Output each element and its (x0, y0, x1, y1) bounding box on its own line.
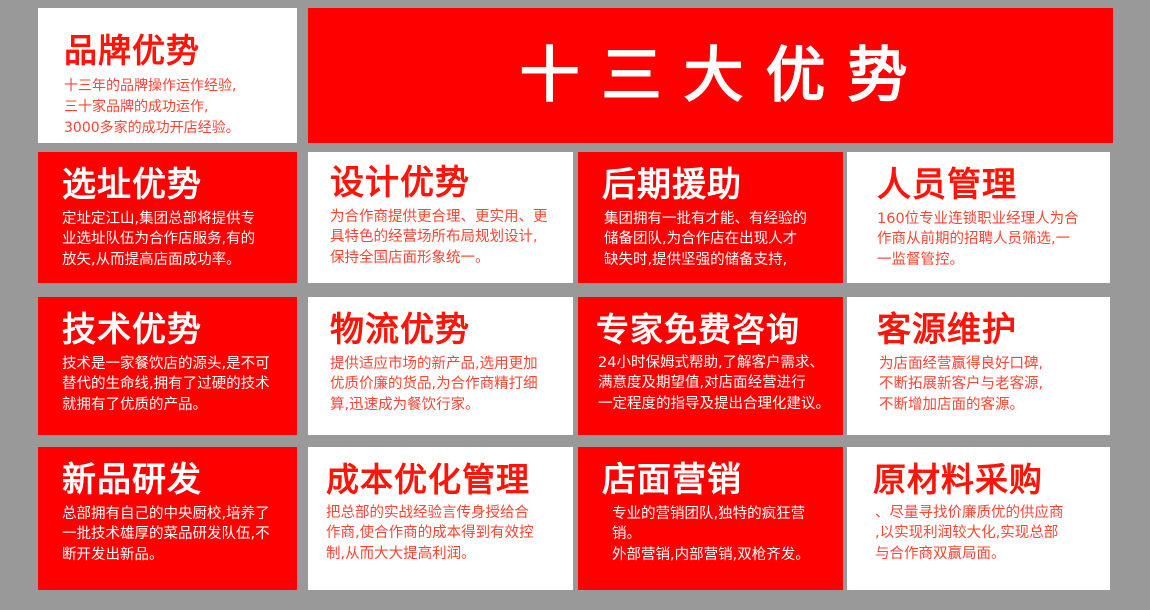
card-title: 原材料采购 (873, 463, 1098, 497)
card-title: 物流优势 (330, 313, 559, 348)
card-expert-free-consultation: 专家免费咨询 24小时保姆式帮助,了解客户需求、 满意度及期望值,对店面经营进行… (578, 297, 843, 435)
card-title: 选址优势 (62, 168, 283, 203)
card-customer-source-maintenance: 客源维护 为店面经营赢得良好口碑, 不断拓展新客户与老客源, 不断增加店面的客源… (847, 297, 1110, 435)
card-body: 定址定江山,集团总部将提供专 业选址队伍为合作店服务,有的 放矢,从而提高店面成… (62, 209, 283, 271)
card-body: 总部拥有自己的中央厨校,培养了 一批技术雄厚的菜品研发队伍,不 断开发出新品。 (62, 504, 283, 566)
card-store-marketing: 店面营销 专业的营销团队,独特的疯狂营销。 外部营销,内部营销,双枪齐发。 (578, 447, 843, 590)
card-body: 十三年的品牌操作运作经验, 三十家品牌的成功运作, 3000多家的成功开店经验。 (64, 76, 281, 139)
card-logistics-advantage: 物流优势 提供适应市场的新产品,选用更加 优质价廉的货品,为合作商精打细 算,迅… (308, 297, 573, 435)
card-raw-material-procurement: 原材料采购 、尽量寻找价廉质优的供应商 ,以实现利润较大化,实现总部 与合作商双… (847, 447, 1110, 590)
card-body: 、尽量寻找价廉质优的供应商 ,以实现利润较大化,实现总部 与合作商双赢局面。 (875, 503, 1098, 565)
card-cost-optimization-management: 成本优化管理 把总部的实战经验言传身授给合 作商,使合作商的成本得到有效控 制,… (308, 447, 573, 590)
card-title: 技术优势 (62, 313, 283, 348)
card-title: 店面营销 (602, 463, 829, 498)
card-body: 集团拥有一批有才能、有经验的 储备团队,为合作店在出现人才 缺失时,提供坚强的储… (604, 209, 829, 271)
card-title: 新品研发 (62, 463, 283, 498)
card-body: 专业的营销团队,独特的疯狂营销。 外部营销,内部营销,双枪齐发。 (604, 504, 829, 566)
card-new-product-development: 新品研发 总部拥有自己的中央厨校,培养了 一批技术雄厚的菜品研发队伍,不 断开发… (38, 447, 297, 590)
card-title: 设计优势 (330, 166, 559, 201)
card-body: 技术是一家餐饮店的源头,是不可 替代的生命线,拥有了过硬的技术 就拥有了优质的产… (62, 354, 283, 416)
card-body: 为店面经营赢得良好口碑, 不断拓展新客户与老客源, 不断增加店面的客源。 (879, 354, 1096, 416)
card-site-selection-advantage: 选址优势 定址定江山,集团总部将提供专 业选址队伍为合作店服务,有的 放矢,从而… (38, 152, 297, 283)
card-title: 客源维护 (877, 313, 1096, 348)
card-personnel-management: 人员管理 160位专业连锁职业经理人为合 作商从前期的招聘人员筛选,一 一监督管… (847, 152, 1110, 283)
card-body: 提供适应市场的新产品,选用更加 优质价廉的货品,为合作商精打细 算,迅速成为餐饮… (330, 354, 559, 416)
poster-canvas: 品牌优势 十三年的品牌操作运作经验, 三十家品牌的成功运作, 3000多家的成功… (0, 0, 1150, 610)
card-title: 成本优化管理 (326, 463, 561, 497)
card-title: 专家免费咨询 (596, 313, 831, 347)
card-brand-advantage: 品牌优势 十三年的品牌操作运作经验, 三十家品牌的成功运作, 3000多家的成功… (38, 8, 297, 143)
card-body: 24小时保姆式帮助,了解客户需求、 满意度及期望值,对店面经营进行 一定程度的指… (598, 353, 831, 415)
poster-banner: 十三大优势 (308, 8, 1113, 143)
card-title: 后期援助 (602, 168, 829, 203)
card-technical-advantage: 技术优势 技术是一家餐饮店的源头,是不可 替代的生命线,拥有了过硬的技术 就拥有… (38, 297, 297, 435)
card-title: 人员管理 (877, 168, 1096, 203)
card-later-stage-support: 后期援助 集团拥有一批有才能、有经验的 储备团队,为合作店在出现人才 缺失时,提… (578, 152, 843, 283)
card-design-advantage: 设计优势 为合作商提供更合理、更实用、更 具特色的经营场所布局规划设计, 保持全… (308, 152, 573, 283)
banner-title: 十三大优势 (492, 46, 930, 106)
card-body: 为合作商提供更合理、更实用、更 具特色的经营场所布局规划设计, 保持全国店面形象… (330, 207, 559, 269)
card-title: 品牌优势 (64, 34, 281, 68)
card-body: 160位专业连锁职业经理人为合 作商从前期的招聘人员筛选,一 一监督管控。 (877, 209, 1096, 271)
card-body: 把总部的实战经验言传身授给合 作商,使合作商的成本得到有效控 制,从而大大提高利… (326, 503, 561, 565)
